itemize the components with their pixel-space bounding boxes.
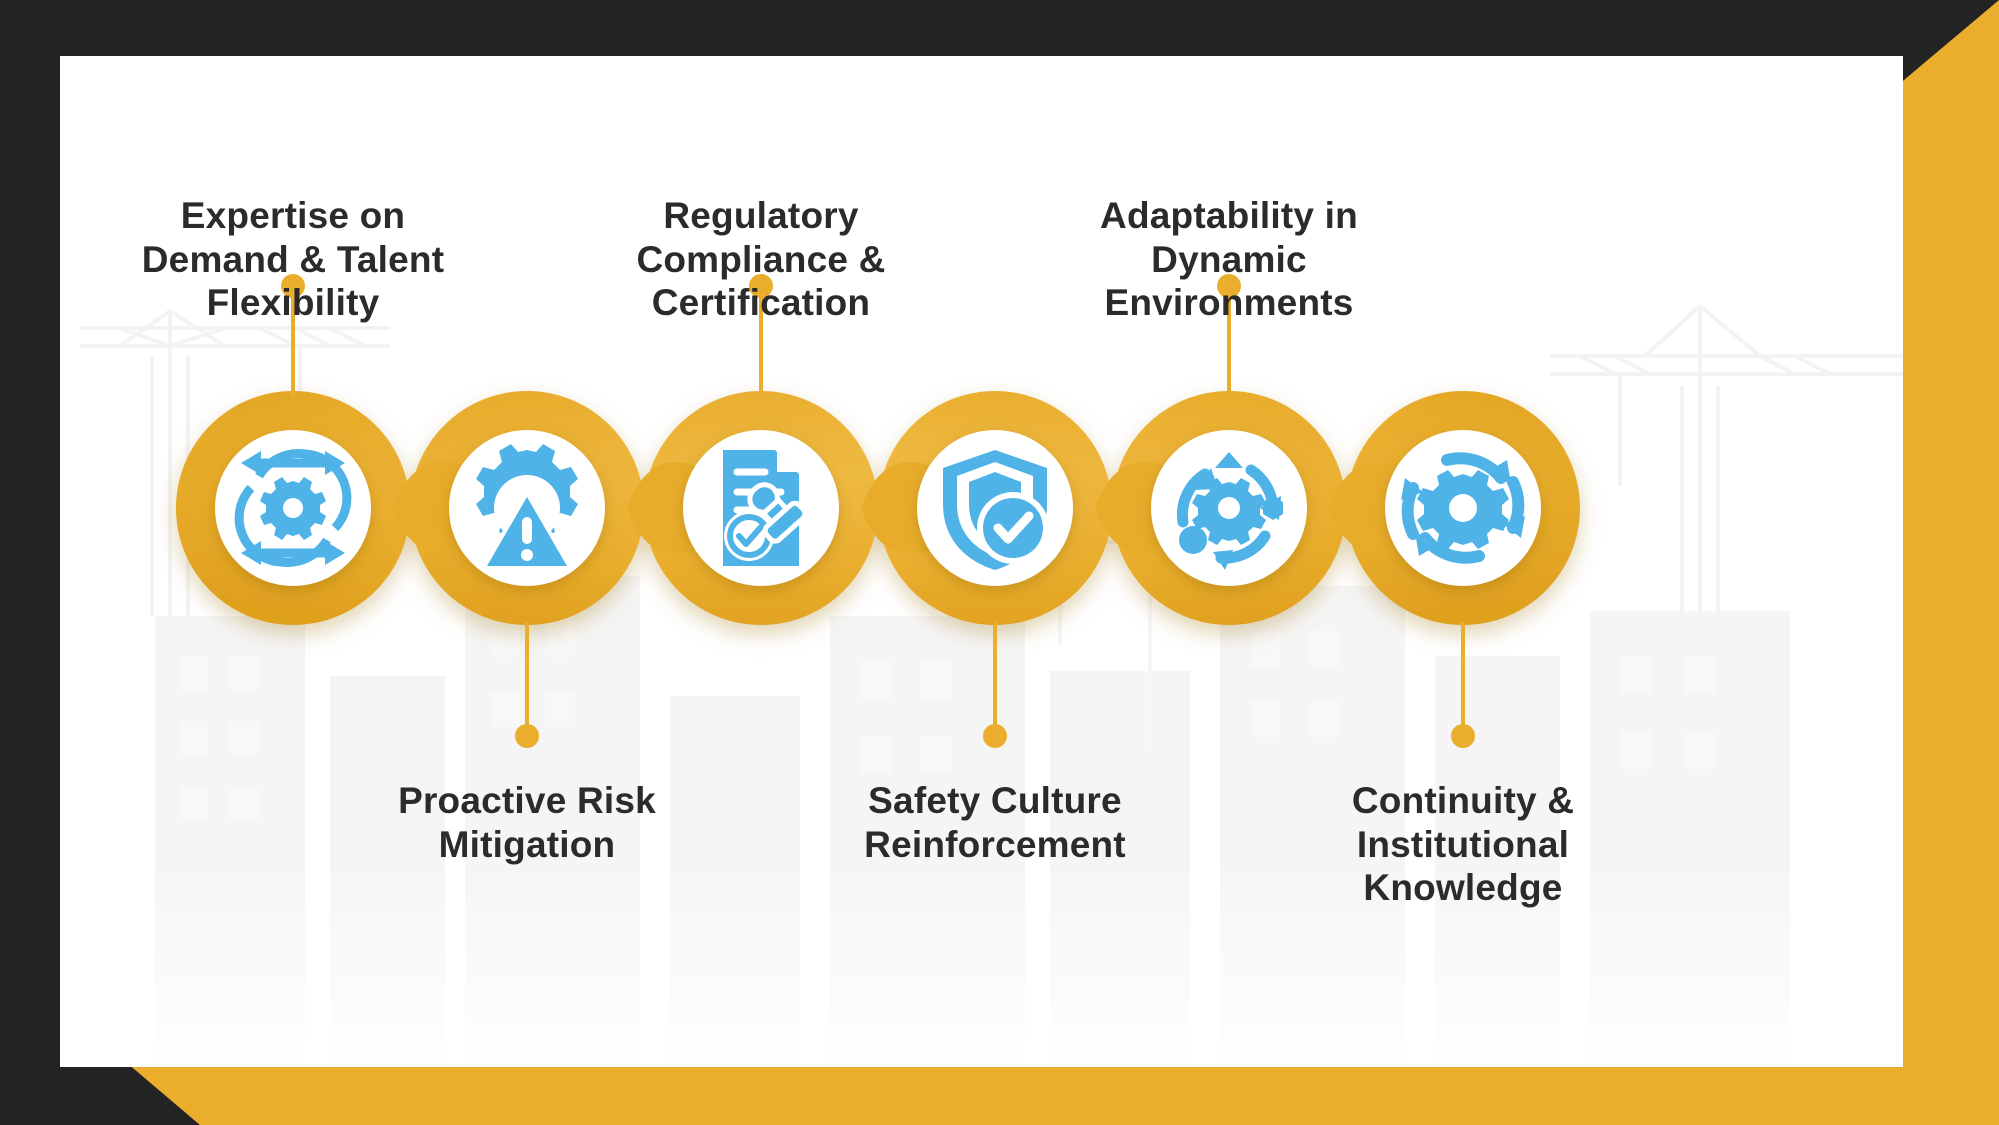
node-label-5: Adaptability in Dynamic Environments [1059,194,1399,325]
node-label-6: Continuity & Institutional Knowledge [1293,779,1633,910]
node-label-3: Regulatory Compliance & Certification [591,194,931,325]
slide-canvas: Expertise on Demand & Talent Flexibility… [0,0,1999,1125]
node-label-1: Expertise on Demand & Talent Flexibility [123,194,463,325]
node-label-2: Proactive Risk Mitigation [357,779,697,866]
content-card: Expertise on Demand & Talent Flexibility… [60,56,1903,1067]
node-label-4: Safety Culture Reinforcement [825,779,1165,866]
